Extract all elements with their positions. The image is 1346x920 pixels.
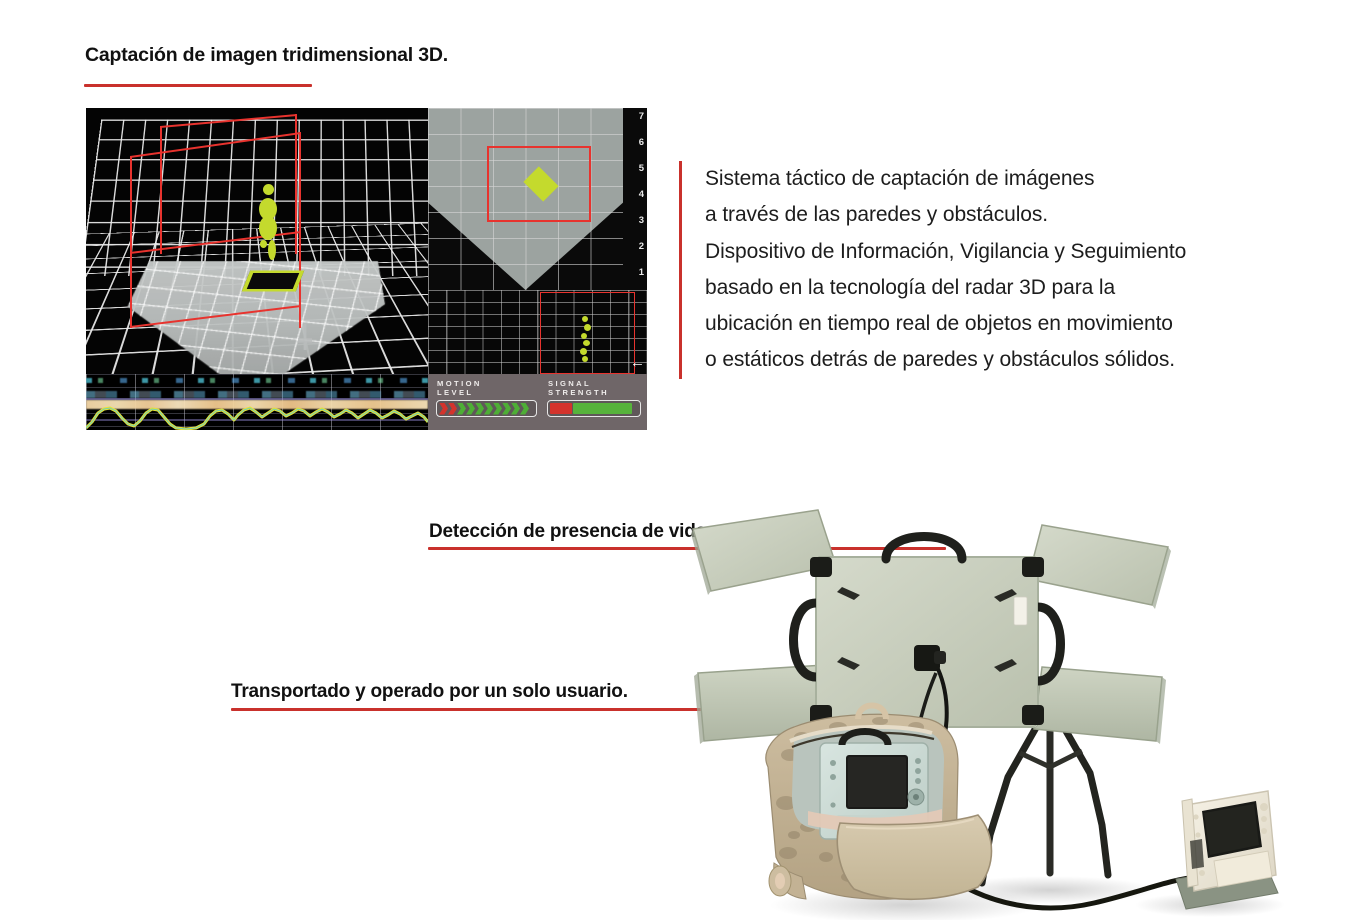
radar-human-target [254,184,284,280]
slide-root: Captación de imagen tridimensional 3D. [0,0,1346,920]
product-photo-svg [690,505,1290,920]
radar-spectrogram-strip [86,374,428,430]
motion-level-chevrons [439,403,529,415]
page-title: Captación de imagen tridimensional 3D. [85,44,448,67]
radar-range-plot-track [578,316,594,364]
spectrogram-band-middle [86,391,428,398]
range-tick-3: 3 [639,216,644,226]
target-torso-blob-lower [259,216,277,240]
motion-level-label-line2: LEVEL [437,388,482,397]
range-tick-1: 1 [639,268,644,278]
radar-room-box-overlay [130,128,345,328]
spectrogram-band-top [86,378,428,383]
target-ground-marker-diamond [242,270,305,291]
backpack-with-control-unit [766,706,992,900]
range-tick-7: 7 [639,112,644,122]
radar-direction-arrow-icon: ← [630,355,645,370]
range-tick-5: 5 [639,164,644,174]
radar-status-panel: MOTION LEVEL SIGNAL STRENGTH [428,374,647,430]
range-tick-2: 2 [639,242,644,252]
description-callout: Sistema táctico de captación de imágenes… [679,161,1186,379]
radar-topdown-view: 7 6 5 4 3 2 1 [428,108,647,290]
range-tick-6: 6 [639,138,644,148]
range-tick-4: 4 [639,190,644,200]
product-photo-group [690,505,1290,920]
signal-strength-gauge [547,400,641,417]
title-underline [84,84,312,87]
section-heading-portability-underline [231,708,705,711]
radar-range-trail-plot: ← [428,290,647,374]
motion-level-gauge [436,400,537,417]
description-text: Sistema táctico de captación de imágenes… [705,161,1186,379]
antenna-panel-top-left [693,510,836,591]
portable-display-unit [1176,791,1278,909]
target-leg-blob-right [268,240,276,260]
motion-level-label-line1: MOTION [437,379,482,388]
target-leg-blob-left [260,240,267,248]
signal-strength-label-line2: STRENGTH [548,388,609,397]
target-head-blob [263,184,274,195]
radar-display-screenshot: 7 6 5 4 3 2 1 ← [86,108,647,430]
signal-strength-bar-green [573,403,632,414]
signal-strength-label: SIGNAL STRENGTH [548,379,609,397]
signal-strength-label-line1: SIGNAL [548,379,609,388]
carry-handle-top [886,537,962,560]
section-heading-life-detection: Detección de presencia de vida. [429,521,711,543]
signal-strength-bar-red [550,403,572,414]
radar-range-scale: 7 6 5 4 3 2 1 [628,108,645,290]
antenna-panel-top-right [1028,525,1168,605]
section-heading-portability: Transportado y operado por un solo usuar… [231,681,628,703]
spectrogram-divider-upper [86,398,428,400]
motion-level-label: MOTION LEVEL [437,379,482,397]
spectrogram-waveform-trace [86,404,428,430]
radar-3d-view [86,108,428,374]
